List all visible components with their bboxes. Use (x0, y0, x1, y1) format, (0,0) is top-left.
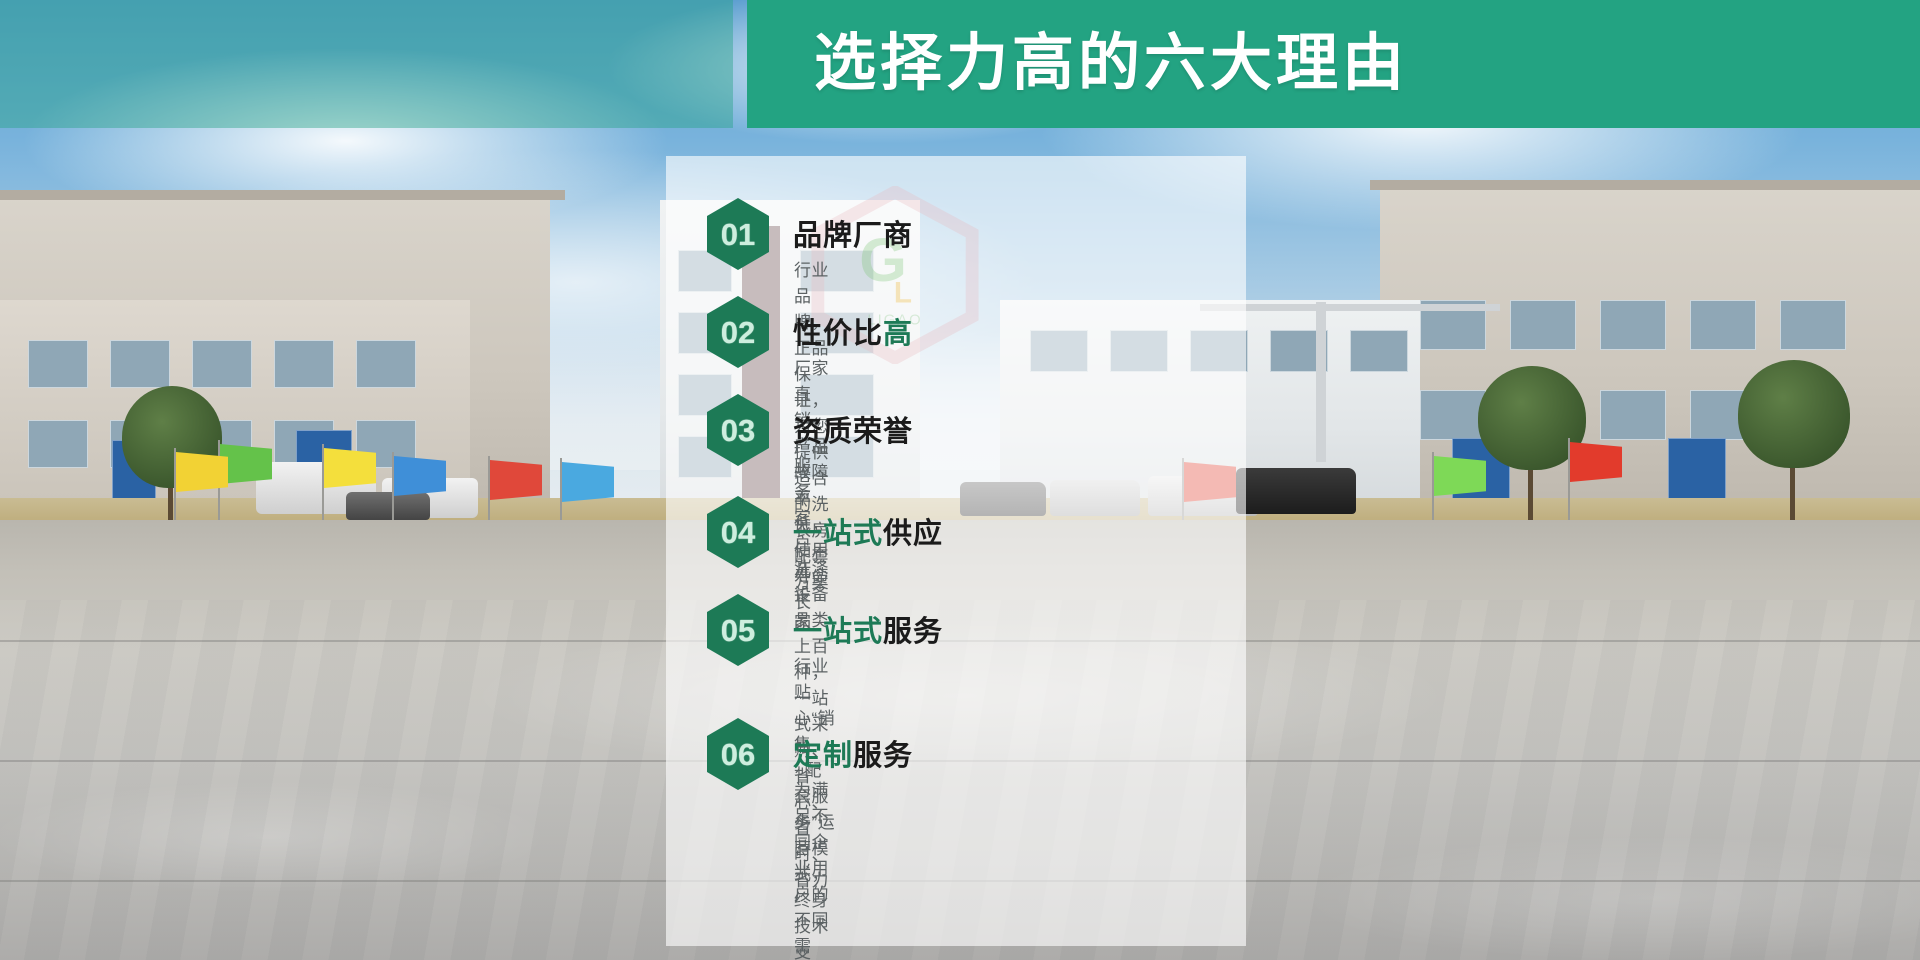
flag-banner (1570, 442, 1622, 482)
feature-title-part2: 荣誉 (853, 416, 913, 448)
window (1420, 390, 1486, 440)
window (28, 420, 88, 468)
window (274, 340, 334, 388)
feature-title-part1: 一站式 (793, 616, 883, 648)
window (1690, 300, 1756, 350)
feature-title-part1: 资质 (793, 416, 853, 448)
header-band-left-overlay (0, 0, 733, 128)
page-title: 选择力高的六大理由 (814, 18, 1408, 110)
window (1780, 300, 1846, 350)
feature-number: 04 (721, 517, 755, 548)
feature-title: 一站式供应 (793, 510, 943, 552)
feature-title: 定制服务 (793, 732, 913, 774)
feature-title: 一站式服务 (793, 608, 943, 650)
feature-badge-hexagon: 04 (707, 496, 769, 568)
feature-number: 05 (721, 615, 755, 646)
flag-banner (490, 460, 542, 500)
feature-desc: 为满足不同企业用户的不同需求，提供产品定制服务 (794, 778, 829, 960)
roofline-left (0, 190, 565, 200)
flag-banner (1434, 456, 1486, 496)
window (1600, 390, 1666, 440)
feature-badge-hexagon: 06 (707, 718, 769, 790)
feature-title: 品牌厂商 (793, 212, 913, 254)
feature-title-part2: 供应 (883, 518, 943, 550)
window (356, 340, 416, 388)
feature-badge-hexagon: 03 (707, 394, 769, 466)
header-band-gap (733, 0, 747, 128)
tree-canopy (1738, 360, 1850, 468)
feature-badge-hexagon: 02 (707, 296, 769, 368)
window (1510, 300, 1576, 350)
feature-title: 性价比高 (793, 310, 913, 352)
feature-badge-hexagon: 01 (707, 198, 769, 270)
feature-badge-hexagon: 05 (707, 594, 769, 666)
window (28, 340, 88, 388)
feature-title-part2: 厂商 (853, 220, 913, 252)
window (1600, 300, 1666, 350)
feature-number: 06 (721, 739, 755, 770)
window (110, 340, 170, 388)
roofline-right (1370, 180, 1920, 190)
feature-title-part1: 一站式 (793, 518, 883, 550)
vehicle-car (346, 492, 430, 520)
feature-number: 01 (721, 219, 755, 250)
features-list: 01 品牌厂商 行业品牌，正品保证，为您提供适合的洗衣房配套方案 02 性价比高… (666, 156, 1366, 946)
feature-number: 02 (721, 317, 755, 348)
feature-title-part1: 定制 (793, 740, 853, 772)
feature-title-part1: 性价比 (793, 318, 883, 350)
feature-title-part2: 服务 (883, 616, 943, 648)
banner-stage: 选择力高的六大理由 G L LIGAO 01 品牌厂商 行业品牌，正品保证，为您… (0, 0, 1920, 960)
flag-banner (562, 462, 614, 502)
feature-number: 03 (721, 415, 755, 446)
feature-title-part2: 服务 (853, 740, 913, 772)
flag-banner (324, 448, 376, 488)
header-band: 选择力高的六大理由 (0, 0, 1920, 128)
flag-banner (176, 452, 228, 492)
flag-banner (394, 456, 446, 496)
feature-title: 资质荣誉 (793, 408, 913, 450)
feature-title-part2: 高 (883, 318, 913, 350)
feature-title-part1: 品牌 (793, 220, 853, 252)
window (192, 340, 252, 388)
